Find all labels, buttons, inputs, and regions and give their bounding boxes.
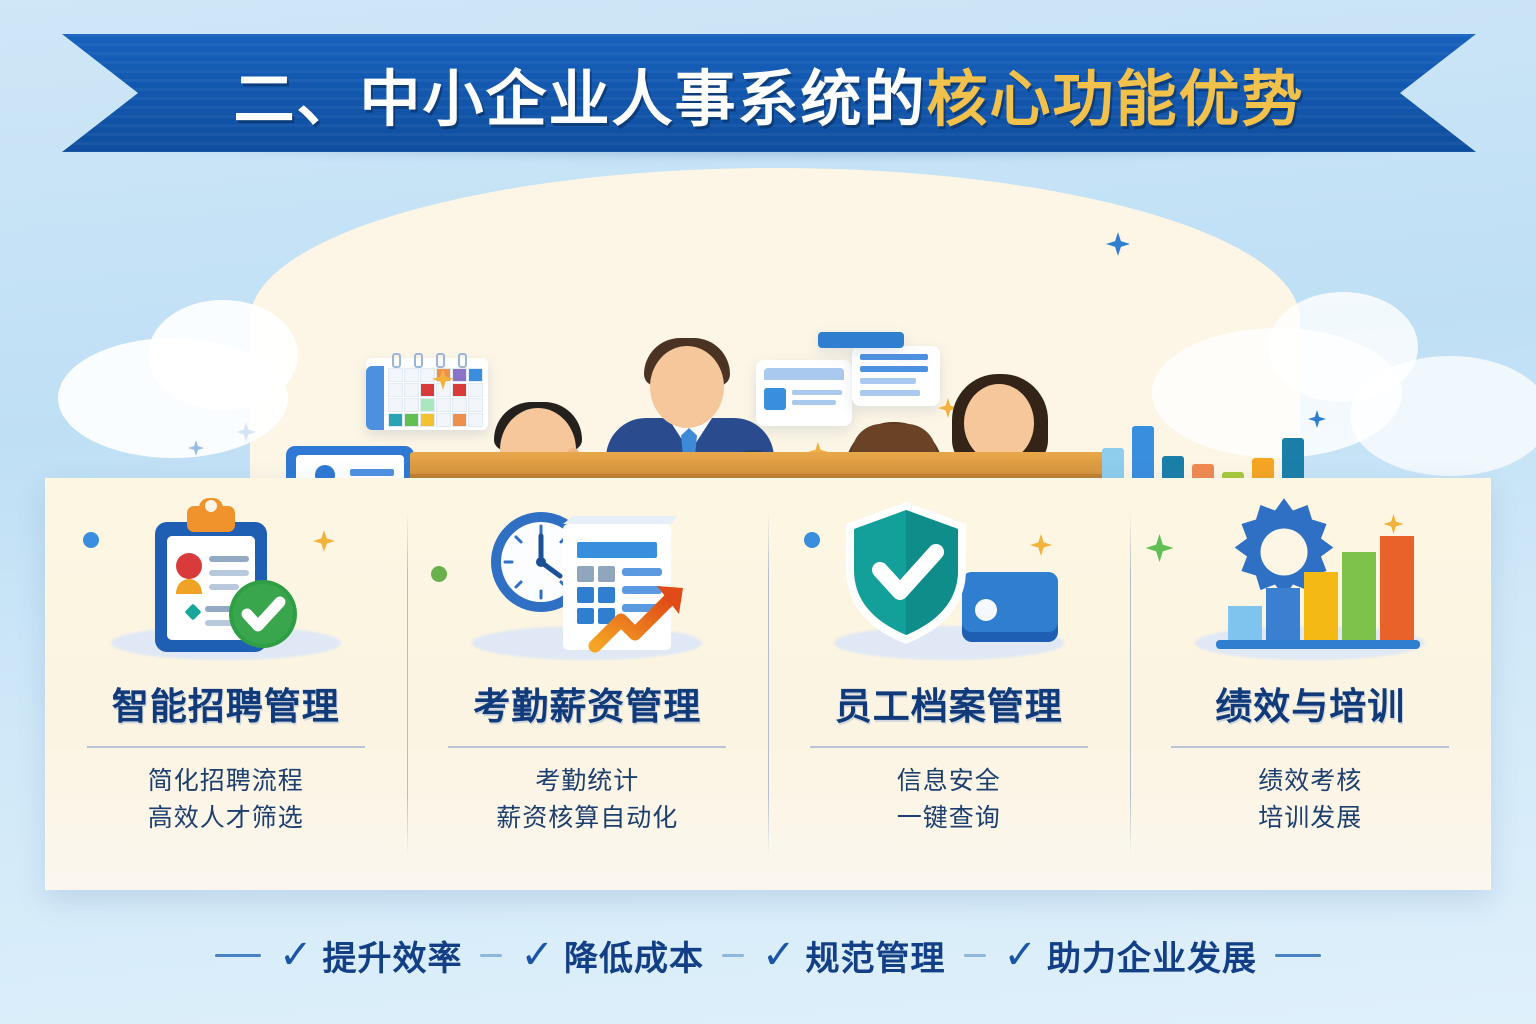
card-subtitle: 简化招聘流程 高效人才筛选 (148, 762, 304, 836)
card-divider (810, 746, 1088, 748)
card-subtitle-line1: 简化招聘流程 (148, 762, 304, 799)
feature-card-recruitment[interactable]: 智能招聘管理 简化招聘流程 高效人才筛选 (45, 478, 407, 890)
check-icon: ✓ (762, 935, 796, 975)
card-title: 智能招聘管理 (112, 676, 340, 730)
standing-man-head (650, 346, 724, 428)
bar-separator (722, 954, 744, 957)
benefit-label: 规范管理 (806, 931, 946, 980)
clipboard-check-icon (45, 478, 407, 674)
benefit-label: 提升效率 (322, 931, 462, 980)
bar-separator (480, 954, 502, 957)
check-icon: ✓ (1004, 935, 1038, 975)
feature-card-performance[interactable]: 绩效与培训 绩效考核 培训发展 (1130, 478, 1492, 890)
card-divider (87, 746, 365, 748)
benefit-item-efficiency: ✓ 提升效率 (279, 931, 463, 980)
standing-woman-head (964, 384, 1034, 462)
card-subtitle-line1: 信息安全 (897, 762, 1001, 799)
cloud-icon (1350, 356, 1536, 476)
card-subtitle-line2: 一键查询 (897, 799, 1001, 836)
benefit-label: 降低成本 (564, 931, 704, 980)
check-icon: ✓ (520, 935, 554, 975)
card-divider (1171, 746, 1449, 748)
gear-bars-icon (1130, 478, 1492, 674)
ui-window-card (852, 346, 940, 406)
card-subtitle: 信息安全 一键查询 (897, 762, 1001, 836)
title-banner: 二、中小企业人事系统的 核心功能优势 (0, 34, 1536, 164)
desk-surface (410, 452, 1110, 476)
shield-check-icon (768, 478, 1130, 674)
page-title: 二、中小企业人事系统的 核心功能优势 (62, 34, 1476, 152)
check-icon: ✓ (279, 935, 313, 975)
benefits-bar: ✓ 提升效率 ✓ 降低成本 ✓ 规范管理 ✓ 助力企业发展 (0, 905, 1536, 1005)
card-title: 员工档案管理 (835, 676, 1063, 730)
bar-rule-left (215, 954, 261, 957)
clock-report-icon (407, 478, 769, 674)
feature-card-records[interactable]: 员工档案管理 信息安全 一键查询 (768, 478, 1130, 890)
benefit-item-growth: ✓ 助力企业发展 (1004, 931, 1258, 980)
bar-rule-right (1275, 954, 1321, 957)
page-title-prefix: 二、中小企业人事系统的 (233, 49, 926, 138)
card-subtitle-line1: 绩效考核 (1258, 762, 1362, 799)
bar-separator (964, 954, 986, 957)
calendar-icon (366, 358, 488, 430)
sparkle-icon (1146, 534, 1174, 562)
card-divider (448, 746, 726, 748)
card-subtitle-line2: 高效人才筛选 (148, 799, 304, 836)
card-subtitle-line2: 培训发展 (1258, 799, 1362, 836)
benefit-label: 助力企业发展 (1047, 931, 1257, 980)
benefit-item-governance: ✓ 规范管理 (762, 931, 946, 980)
card-subtitle: 考勤统计 薪资核算自动化 (496, 762, 678, 836)
benefit-item-cost: ✓ 降低成本 (520, 931, 704, 980)
hero-illustration (0, 160, 1536, 490)
card-title: 绩效与培训 (1215, 676, 1405, 730)
card-title: 考勤薪资管理 (473, 676, 701, 730)
card-subtitle: 绩效考核 培训发展 (1258, 762, 1362, 836)
feature-card-attendance[interactable]: 考勤薪资管理 考勤统计 薪资核算自动化 (407, 478, 769, 890)
page-title-highlight: 核心功能优势 (927, 49, 1305, 138)
card-subtitle-line2: 薪资核算自动化 (496, 799, 678, 836)
card-subtitle-line1: 考勤统计 (496, 762, 678, 799)
ui-window-card (818, 332, 904, 348)
cloud-icon (148, 300, 298, 410)
feature-cards-panel: 智能招聘管理 简化招聘流程 高效人才筛选 (45, 478, 1491, 890)
ui-window-card (756, 360, 852, 426)
